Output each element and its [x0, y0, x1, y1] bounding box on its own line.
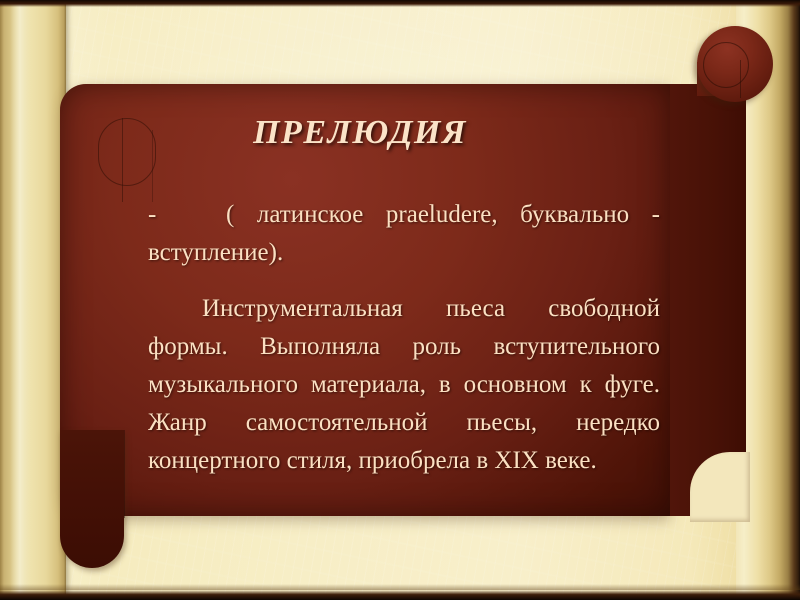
paragraph-description: Инструментальная пьеса свободной формы. … — [148, 290, 660, 480]
scroll-curl-icon-top-right-inner — [703, 42, 749, 88]
paragraph-definition: -( латинское praeludere, буквально - вст… — [148, 196, 660, 272]
scroll-tab-bottom-left-line — [124, 430, 125, 518]
slide-body: -( латинское praeludere, буквально - вст… — [148, 196, 660, 480]
paragraph-lead-dash: - — [148, 196, 226, 234]
slide-title: ПРЕЛЮДИЯ — [60, 114, 660, 152]
scroll-tab-bottom-left — [60, 430, 124, 568]
scroll-roll-left-highlight — [10, 0, 30, 600]
sheet-top-edge — [0, 0, 800, 7]
presentation-slide: ПРЕЛЮДИЯ -( латинское praeludere, буквал… — [0, 0, 800, 600]
scroll-curl-icon-top-right-line — [740, 60, 741, 98]
sheet-bottom-edge — [0, 590, 800, 600]
scroll-roll-left — [0, 0, 66, 600]
